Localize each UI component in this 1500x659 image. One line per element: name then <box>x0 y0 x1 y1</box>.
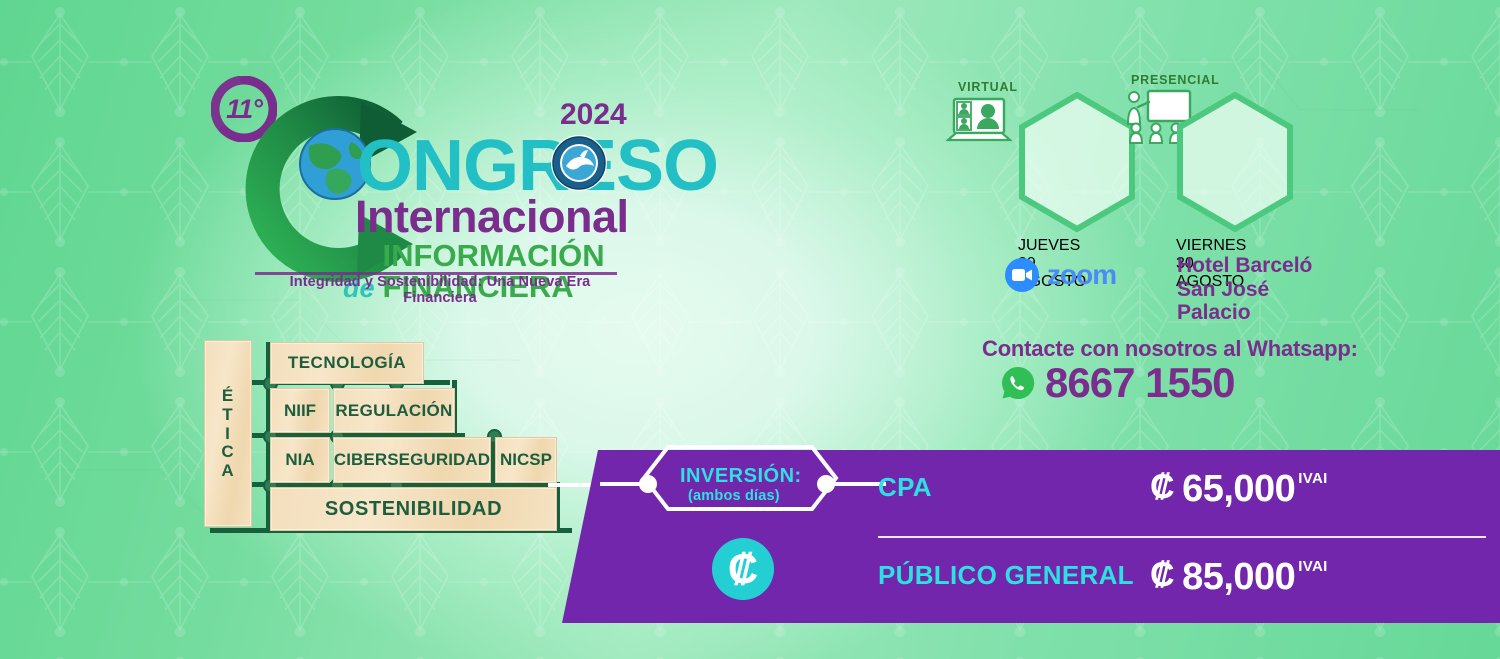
block-label: TECNOLOGÍA <box>288 353 406 373</box>
congress-logo: 11° ONGRESO 2024 <box>205 72 635 287</box>
investment-title: INVERSIÓN: <box>680 465 802 488</box>
price-row-label: PÚBLICO GENERAL <box>878 560 1134 591</box>
block-label: NIIF <box>284 401 316 421</box>
congress-promo-banner: 11° ONGRESO 2024 <box>0 0 1500 659</box>
investment-connector-left <box>600 470 660 498</box>
price-currency: ₡ <box>1150 468 1174 507</box>
logo-tagline: Integridad y Sostenibilidad: Una Nueva E… <box>255 274 625 306</box>
etica-letter: A <box>221 462 234 480</box>
zoom-camera-icon <box>1005 258 1039 292</box>
laptop-video-call-icon <box>946 96 1012 148</box>
weekday-label: VIERNES <box>1176 237 1294 255</box>
price-row-value-publico: ₡ 85,000 IVAI <box>1150 556 1328 599</box>
price-row-publico: PÚBLICO GENERAL <box>878 560 1134 591</box>
block-nia: NIA <box>270 437 330 483</box>
etica-letter: C <box>221 443 234 461</box>
logo-word-internacional: Internacional <box>355 194 629 239</box>
price-row-cpa: CPA <box>878 472 932 503</box>
price-amount: 85,000 <box>1182 556 1295 599</box>
whatsapp-icon <box>1001 366 1035 400</box>
block-label: NIA <box>285 450 314 470</box>
virtual-mode-label: VIRTUAL <box>958 80 1018 94</box>
venue-line-3: Palacio <box>1177 301 1312 325</box>
hexagon-shape <box>1018 92 1136 232</box>
pillars-diagram: É T I C A TECNOLOGÍA NIIF REGULACIÓN NIA… <box>200 330 600 560</box>
pricing-panel: INVERSIÓN: (ambos días) ₡ CPA ₡ 65,000 I… <box>560 450 1500 635</box>
block-sostenibilidad: SOSTENIBILIDAD <box>270 487 557 531</box>
price-tax-note: IVAI <box>1298 558 1327 575</box>
price-row-divider <box>878 536 1486 538</box>
date-badge-presencial: VIERNES 30 AGOSTO <box>1176 92 1294 232</box>
zoom-platform-logo[interactable]: zoom <box>1005 258 1116 292</box>
weekday-label: JUEVES <box>1018 237 1136 255</box>
presencial-mode-label: PRESENCIAL <box>1131 73 1220 87</box>
whatsapp-number: 8667 1550 <box>1045 362 1235 404</box>
price-row-label: CPA <box>878 472 932 503</box>
etica-letter: É <box>222 387 234 405</box>
price-tax-note: IVAI <box>1298 470 1327 487</box>
pillar-block-etica: É T I C A <box>204 340 252 527</box>
zoom-label: zoom <box>1047 259 1116 291</box>
venue-line-2: San José <box>1177 278 1312 302</box>
price-currency: ₡ <box>1150 556 1174 595</box>
currency-symbol: ₡ <box>728 545 758 593</box>
etica-letter: T <box>222 406 233 424</box>
price-amount: 65,000 <box>1182 468 1295 511</box>
whatsapp-contact[interactable]: 8667 1550 <box>1001 362 1235 404</box>
logo-year: 2024 <box>560 98 627 132</box>
block-label: NICSP <box>500 450 552 470</box>
block-label: REGULACIÓN <box>335 401 452 421</box>
currency-coin-icon: ₡ <box>712 538 774 600</box>
date-badge-virtual: JUEVES 29 AGOSTO <box>1018 92 1136 232</box>
venue-line-1: Hotel Barceló <box>1177 254 1312 278</box>
dolphin-seal-icon <box>550 134 608 192</box>
venue-name: Hotel Barceló San José Palacio <box>1177 254 1312 325</box>
block-label: SOSTENIBILIDAD <box>325 498 502 521</box>
hexagon-shape <box>1176 92 1294 232</box>
investment-subtitle: (ambos días) <box>688 488 780 504</box>
block-regulacion: REGULACIÓN <box>333 388 455 433</box>
price-row-value-cpa: ₡ 65,000 IVAI <box>1150 468 1328 511</box>
block-ciberseguridad: CIBERSEGURIDAD <box>333 437 491 483</box>
block-niif: NIIF <box>270 388 330 433</box>
block-tecnologia: TECNOLOGÍA <box>270 342 424 384</box>
etica-letter: I <box>225 425 231 443</box>
block-label: CIBERSEGURIDAD <box>334 450 490 470</box>
